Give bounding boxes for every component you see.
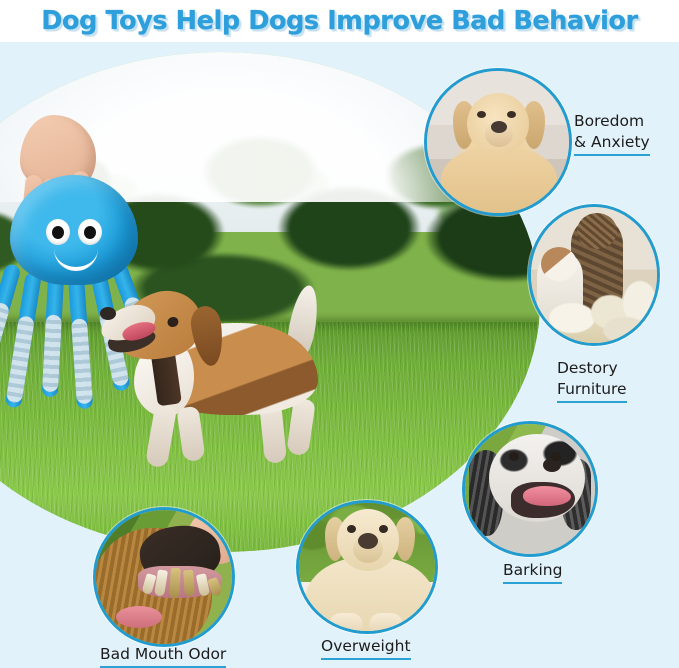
jack-russell-head xyxy=(541,247,577,281)
brown-curly-dog-head xyxy=(577,213,617,249)
label-line-2: & Anxiety xyxy=(574,132,650,156)
dog-teeth xyxy=(142,568,224,604)
dog-nose xyxy=(358,533,378,549)
toy-smile xyxy=(54,249,98,271)
tooth xyxy=(154,569,168,596)
behavior-photo-destroy-furniture[interactable] xyxy=(528,204,660,346)
dog-lip xyxy=(116,606,162,628)
dog-eye xyxy=(509,452,519,461)
dog-eye xyxy=(507,111,516,118)
behavior-photo-boredom[interactable] xyxy=(424,68,572,216)
toy-tentacle xyxy=(42,277,64,398)
label-line-1: Barking xyxy=(503,560,562,584)
dog-eye xyxy=(347,525,356,533)
barking-dog-scene xyxy=(465,424,595,554)
cushion-stuffing xyxy=(549,303,595,333)
behavior-label-destroy-furniture: Destory Furniture xyxy=(557,358,627,403)
dog-nose xyxy=(491,121,507,133)
behavior-photo-barking[interactable] xyxy=(462,421,598,557)
toy-pupil xyxy=(52,226,64,239)
infographic-poster: Dog Toys Help Dogs Improve Bad Behavior xyxy=(0,0,679,668)
tooth xyxy=(207,577,223,597)
toy-eye xyxy=(78,219,102,245)
label-line-1: Bad Mouth Odor xyxy=(100,644,226,668)
toy-tentacle xyxy=(68,276,93,409)
toy-head xyxy=(10,175,138,285)
dog-paw xyxy=(369,613,403,634)
toy-pupil xyxy=(84,226,96,239)
dog-leg xyxy=(145,404,177,469)
beagle-dog xyxy=(94,277,379,492)
destroyed-furniture-scene xyxy=(531,207,657,343)
page-title: Dog Toys Help Dogs Improve Bad Behavior xyxy=(0,0,679,42)
behavior-label-boredom: Boredom & Anxiety xyxy=(574,111,650,156)
dog-eye xyxy=(166,316,179,329)
dog-tongue xyxy=(523,486,571,506)
dog-paw xyxy=(329,613,363,634)
label-line-1: Overweight xyxy=(321,636,411,660)
label-line-1: Boredom xyxy=(574,111,650,132)
dog-nose xyxy=(100,307,116,320)
dog-teeth-scene xyxy=(96,510,232,644)
label-line-2: Furniture xyxy=(557,379,627,403)
behavior-label-bad-mouth-odor: Bad Mouth Odor xyxy=(100,644,226,668)
dog-body xyxy=(441,145,557,216)
tooth xyxy=(169,568,181,598)
toy-eye xyxy=(46,219,70,245)
dog-eye xyxy=(379,525,388,533)
tooth xyxy=(183,570,195,597)
behavior-label-barking: Barking xyxy=(503,560,562,584)
behavior-label-overweight: Overweight xyxy=(321,636,411,660)
golden-retriever-scene xyxy=(427,71,569,213)
dog-leg xyxy=(176,406,205,463)
label-line-1: Destory xyxy=(557,358,627,379)
cushion-stuffing xyxy=(603,317,647,343)
dog-eye xyxy=(477,111,486,118)
dog-eye xyxy=(551,452,561,461)
overweight-dog-scene xyxy=(299,503,435,631)
behavior-photo-overweight[interactable] xyxy=(296,500,438,634)
behavior-photo-bad-mouth-odor[interactable] xyxy=(93,507,235,647)
